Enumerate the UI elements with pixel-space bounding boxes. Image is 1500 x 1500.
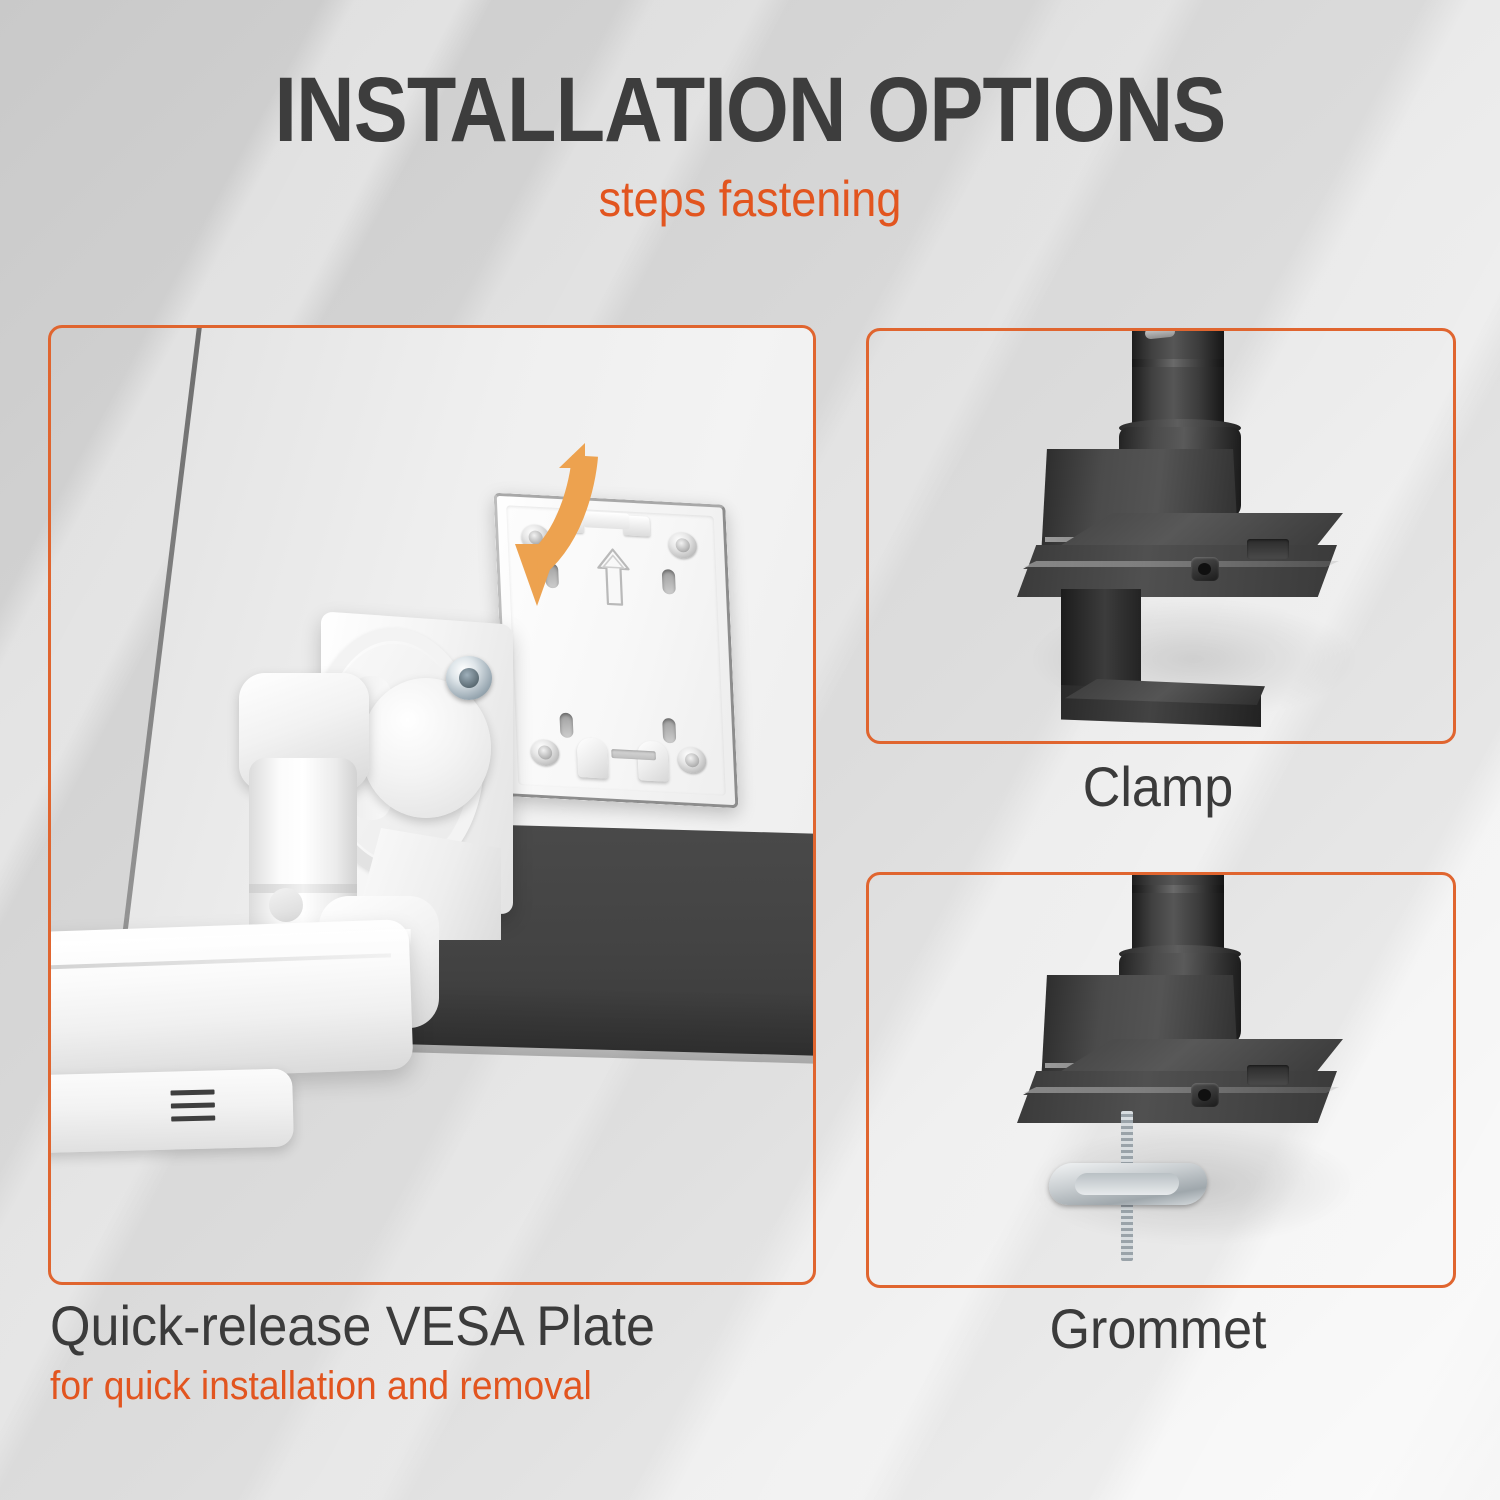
vesa-slot-top-right bbox=[662, 569, 676, 595]
grommet-button-icon bbox=[1191, 1083, 1219, 1107]
caption-grommet: Grommet bbox=[886, 1298, 1429, 1360]
washer-plate-icon bbox=[1047, 1163, 1209, 1205]
pivot-nub-secondary-icon bbox=[269, 888, 303, 922]
grommet-scene bbox=[869, 875, 1453, 1285]
panel-grommet bbox=[866, 872, 1456, 1288]
vesa-slot-bottom-left bbox=[559, 713, 573, 739]
panel-vesa-plate bbox=[48, 325, 816, 1285]
infographic-page: INSTALLATION OPTIONS steps fastening bbox=[0, 0, 1500, 1500]
page-title: INSTALLATION OPTIONS bbox=[90, 62, 1410, 158]
grommet-cable-slot-icon bbox=[1247, 1065, 1289, 1085]
page-subtitle: steps fastening bbox=[75, 172, 1425, 226]
vesa-hook-right bbox=[637, 740, 669, 781]
mount-arm-tube-ring bbox=[249, 884, 357, 893]
clamp-button-icon bbox=[1191, 557, 1219, 581]
clamp-pole-ring bbox=[1132, 359, 1224, 367]
vesa-scene bbox=[51, 328, 813, 1282]
grommet-mount-icon bbox=[969, 872, 1389, 1288]
cable-grill-icon bbox=[170, 1089, 215, 1130]
curved-motion-arrow-icon bbox=[409, 438, 599, 623]
vesa-slot-bottom-right bbox=[662, 718, 676, 744]
desk-clamp-mount-icon bbox=[969, 328, 1389, 744]
clamp-base-plate-edge bbox=[1017, 561, 1339, 567]
grommet-base-plate-icon bbox=[1017, 1071, 1337, 1123]
grommet-base-plate-edge bbox=[1017, 1087, 1339, 1093]
caption-vesa-plate: Quick-release VESA Plate bbox=[50, 1296, 655, 1356]
up-arrow-marker-icon bbox=[594, 546, 633, 610]
vesa-hook-left bbox=[577, 737, 609, 778]
release-bolt-icon bbox=[446, 656, 492, 700]
grommet-pole-ring bbox=[1132, 885, 1224, 893]
clamp-scene bbox=[869, 331, 1453, 741]
clamp-cable-slot-icon bbox=[1247, 539, 1289, 559]
panel-clamp bbox=[866, 328, 1456, 744]
caption-vesa-plate-sub: for quick installation and removal bbox=[50, 1364, 592, 1408]
caption-clamp: Clamp bbox=[886, 756, 1429, 818]
